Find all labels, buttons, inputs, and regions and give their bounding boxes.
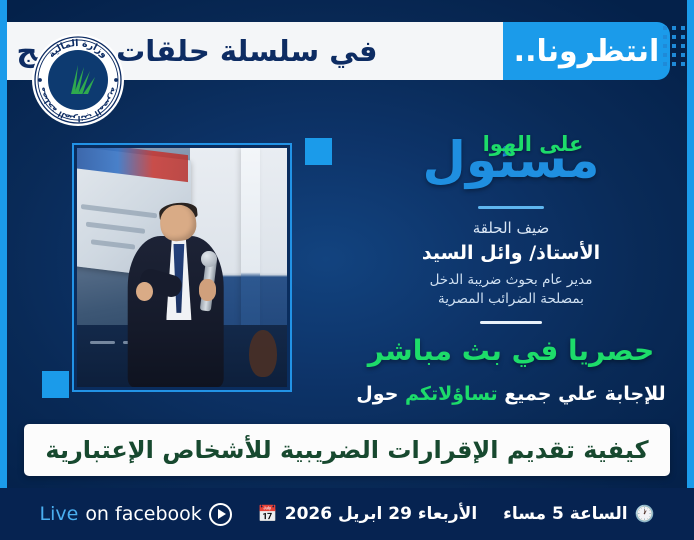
speaker-hand-left <box>136 282 153 301</box>
speaker-photo-frame <box>72 143 292 392</box>
left-edge-stripe <box>0 0 7 540</box>
photo-screen-line <box>86 221 144 233</box>
microphone-head <box>201 251 217 268</box>
live-word: Live <box>40 503 79 525</box>
time-text: الساعة 5 مساء <box>503 504 627 524</box>
play-circle-icon[interactable] <box>209 503 232 526</box>
calendar-icon: 📅 <box>258 506 278 522</box>
guest-label: ضيف الحلقة <box>328 219 694 237</box>
topic-banner-text: كيفية تقديم الإقرارات الضريبية للأشخاص ا… <box>45 436 648 464</box>
question-line: للإجابة علي جميع تساؤلاتكم حول <box>328 383 694 405</box>
guest-role-line-2: بمصلحة الضرائب المصرية <box>328 290 694 309</box>
topic-banner: كيفية تقديم الإقرارات الضريبية للأشخاص ا… <box>24 424 670 476</box>
photo-screen-banner <box>77 148 188 181</box>
poster-canvas: في سلسلة حلقات برنامج انتظرونا.. <box>0 0 694 540</box>
program-subtitle: على الهوا <box>483 132 584 156</box>
photo-screen-line <box>91 239 135 249</box>
question-suffix: حول <box>356 383 398 405</box>
ministry-logo: وزارة المالية مصلحة الضرائب المصرية <box>30 32 126 128</box>
date-item: الأربعاء 29 ابريل 2026 📅 <box>258 504 477 524</box>
guest-name: الأستاذ/ وائل السيد <box>328 242 694 264</box>
blue-square-bottom-left <box>42 371 69 398</box>
header-highlight-badge: انتظرونا.. <box>503 22 670 80</box>
date-text: الأربعاء 29 ابريل 2026 <box>285 504 477 524</box>
photo-desk-dash <box>90 341 115 344</box>
question-highlight: تساؤلاتكم <box>405 383 498 405</box>
bottom-info-bar: 🕐 الساعة 5 مساء الأربعاء 29 ابريل 2026 📅… <box>0 488 694 540</box>
guest-divider <box>480 321 542 324</box>
content-column: مسئول على الهوا ضيف الحلقة الأستاذ/ وائل… <box>328 130 694 405</box>
time-item: 🕐 الساعة 5 مساء <box>503 504 654 524</box>
dot-grid-icon <box>662 26 685 67</box>
right-edge-stripe <box>687 0 694 540</box>
facebook-live-item[interactable]: Live on facebook <box>40 503 232 526</box>
guest-role-line-1: مدير عام بحوث ضريبة الدخل <box>328 271 694 290</box>
header-highlight-badge-label: انتظرونا.. <box>514 34 660 69</box>
speaker-hand-right <box>199 279 216 301</box>
exclusive-live-text: حصريا في بث مباشر <box>328 334 694 367</box>
photo-screen-line <box>81 204 157 218</box>
program-title-block: مسئول على الهوا <box>328 130 694 194</box>
clock-icon: 🕐 <box>635 506 655 522</box>
title-divider <box>478 206 544 209</box>
speaker-photo <box>77 148 287 387</box>
photo-speaker-cabinet <box>249 330 276 378</box>
platform-word: on facebook <box>85 503 202 525</box>
question-prefix: للإجابة علي جميع <box>504 383 665 405</box>
